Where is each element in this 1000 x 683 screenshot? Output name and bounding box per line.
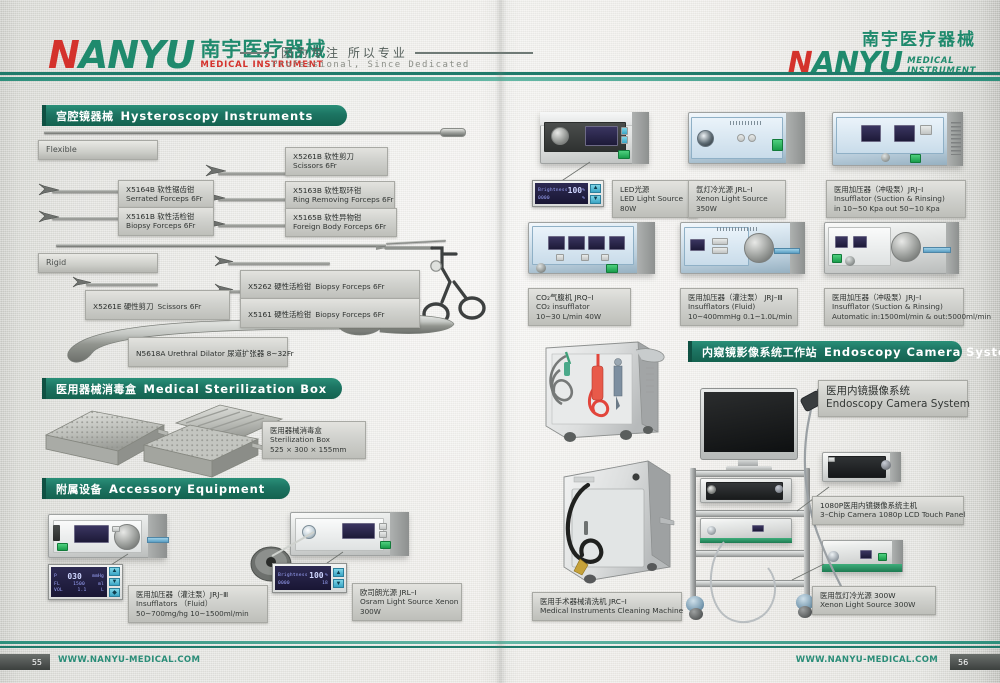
lcd-callout-led: Brightness100% 0000% ▲ ▼ [532,180,604,207]
slogan-cn: 因为专注 所以专业 [281,44,408,61]
device-lcd-1 [548,236,564,251]
lcd-row1-unit: mmHg [92,574,104,579]
section-accessory-en: Accessory Equipment [109,482,265,496]
lcd-brightness-value: 100 [309,571,323,580]
lcd-sub-label: 0000 [278,581,290,586]
section-accessory-cn: 附属设备 [56,481,102,497]
caption-sterilization-box-en: Sterilization Box [270,435,358,444]
caption-led-en: LED Light Source [620,194,690,203]
section-sterilization-en: Medical Sterilization Box [144,382,328,396]
caption-insufflator-fluid: 医用加压器（灌注泵） JRJ–Ⅲ Insufflators (Fluid) 10… [680,288,798,326]
lcd-brightness-label: Brightness [538,188,568,193]
ccu-knob[interactable] [707,485,716,494]
device-button-set[interactable] [920,125,932,135]
gas-port [536,263,546,273]
caption-co2-insufflator: CO₂气腹机 JRQ–Ⅰ CO₂ insufflator 10~30 L/min… [528,288,631,326]
caption-camera-system-en: Endoscopy Camera System [826,398,960,411]
caption-sterilization-box-cn: 医用器械消毒盒 [270,426,358,435]
serrated-forceps-jaw-icon [38,183,60,197]
caption-insufflator-fluid-cn: 医用加压器（灌注泵） JRJ–Ⅲ [688,293,790,302]
brand-letters-anyu: ANYU [79,33,195,77]
device-brand-text-strip [717,227,759,231]
section-camera-system-en: Endoscopy Camera System [824,345,1000,359]
caption-serrated-en: Serrated Forceps 6Fr [126,194,206,203]
lcd-sub-unit: % [582,196,585,201]
caption-insufflator-suction-spec: in 10~50 Kpa out 50~10 Kpa [834,204,958,213]
caption-ring-removing-cn: X5163B 软性取环钳 [293,186,387,195]
caption-led-cn: LED光源 [620,185,690,194]
lcd-key-set[interactable]: ◆ [109,588,120,597]
device-button-up[interactable] [621,127,628,135]
caption-led-spec: 80W [620,204,690,213]
slogan-dash-left [240,52,274,54]
slogan-en: Professional, Since Dedicated [272,60,470,70]
cleaning-machine-lower [548,455,678,585]
caption-insufflator-fluid-spec: 10~400mmHg 0.1~1.0L/min [688,312,790,321]
caption-biopsy-flex: X5161B 软性活检钳 Biopsy Forceps 6Fr [118,207,214,236]
caption-biopsy-5161: X5161 硬性活检钳Biopsy Forceps 6Fr [240,298,420,328]
ccu-camera-port [775,485,783,493]
power-button[interactable] [606,264,618,273]
scissors-flex-jaw-icon [205,164,227,178]
lcd-row2-unit: ml [98,582,104,587]
device-button-down[interactable] [621,136,628,144]
rigid-sheath-shaft [56,244,386,247]
caption-xenon-en: Xenon Light Source [696,194,778,203]
slogan-row: 因为专注 所以专业 [240,44,533,61]
page-footer: 55 WWW.NANYU-MEDICAL.COM WWW.NANYU-MEDIC… [0,637,1000,683]
power-button[interactable] [832,254,842,263]
rear-vent [951,122,961,155]
cart-post-left [690,468,696,600]
lcd-key-down[interactable]: ▼ [333,579,344,588]
brand-letter-n: N [48,33,79,77]
instrument-shaft-biopsy-5262 [228,262,330,265]
label-flexible: Flexible [38,140,158,160]
caption-serrated-cn: X5164B 软性锯齿钳 [126,185,206,194]
caption-foreign-body-cn: X5165B 软性异物钳 [293,213,389,222]
device-button-a[interactable] [737,134,745,142]
section-header-camera-system: 内窥镜影像系统工作站 Endoscopy Camera System [688,341,962,362]
slogan-dash-right [415,52,533,54]
caption-co2-en: CO₂ insufflator [536,302,623,311]
caption-led-light-source: LED光源 LED Light Source 80W [612,180,698,218]
caption-ring-removing-en: Ring Removing Forceps 6Fr [293,195,387,204]
lcd-key-down[interactable]: ▼ [590,195,601,204]
section-header-hysteroscopy: 宫腔镜器械 Hysteroscopy Instruments [42,105,347,126]
lcd-sub-value: 18 [322,581,328,586]
device-button[interactable] [112,526,120,532]
caption-xenon-300w-en: Xenon Light Source 300W [820,600,928,609]
section-header-sterilization: 医用器械消毒盒 Medical Sterilization Box [42,378,342,399]
page-number-left: 55 [0,654,50,670]
light-output-port [707,526,716,535]
caption-sterilization-box-size: 525 × 300 × 155mm [270,445,358,454]
hysteroscope-handle [440,128,466,137]
device-brand-text-strip [730,121,762,125]
cart-cable [700,540,820,630]
device-led-light-source [540,112,648,164]
caption-insufflator-fluid-left: 医用加压器（灌注泵）JRJ–Ⅲ Insufflators （Fluid） 50~… [128,585,268,623]
device-lcd [74,525,109,543]
lcd-key-down[interactable]: ▼ [109,578,120,587]
cart-camera-control-unit [700,478,792,503]
tubing-connector [774,248,800,254]
tubing-connector [147,537,169,543]
section-sterilization-cn: 医用器械消毒盒 [56,381,137,397]
power-button[interactable] [772,139,783,151]
caption-sterilization-box: 医用器械消毒盒 Sterilization Box 525 × 300 × 15… [262,421,366,459]
caption-co2-cn: CO₂气腹机 JRQ–Ⅰ [536,293,623,302]
caption-suction-auto-cn: 医用加压器（冲吸泵）JRJ–Ⅰ [832,293,956,302]
caption-biopsy-5161-cn: X5161 硬性活检钳 [248,310,311,319]
device-lcd-left [861,125,882,142]
device-port [53,525,60,541]
footer-rule-dark [0,646,1000,648]
light-output-port [697,130,714,147]
caption-biopsy-5262-en: Biopsy Forceps 6Fr [315,282,384,291]
caption-biopsy-5262-cn: X5262 硬性活检钳 [248,282,311,291]
device-lcd-b [853,236,866,248]
device-button-3[interactable] [601,254,609,261]
lcd-key-up[interactable]: ▲ [109,567,120,576]
lcd-brightness-unit: % [582,188,585,193]
brand-wordmark-left: NANYU [48,38,194,72]
device-insufflator-suction-auto [824,222,958,274]
caption-co2-spec: 10~30 L/min 40W [536,312,623,321]
biopsy-5262-jaw-icon [214,255,234,268]
caption-biopsy-5262: X5262 硬性活检钳Biopsy Forceps 6Fr [240,270,420,300]
device-lcd [342,523,375,539]
power-button[interactable] [380,541,391,549]
device-lcd-2 [568,236,584,251]
lcd-row1-value: 030 [67,572,81,581]
scissors-rigid-jaw-icon [72,276,92,289]
device-button-down[interactable] [379,531,387,538]
power-button[interactable] [910,154,921,163]
tubing-connector [923,247,951,253]
lcd-row3-unit: L [101,588,104,593]
lcd-row1-label: P [54,574,57,579]
device-co2-insufflator [528,222,654,274]
caption-insufflator-suction-cn: 医用加压器（冲吸泵）JRJ–Ⅰ [834,185,958,194]
caption-osram-light: 欧司朗光源 JRL–Ⅰ Osram Light Source Xenon 300… [352,583,462,621]
lcd-row2-value: 1500 [73,582,85,587]
power-button[interactable] [57,543,68,551]
device-insufflator-suction [832,112,962,166]
section-hysteroscopy-cn: 宫腔镜器械 [56,108,114,124]
device-button-1[interactable] [556,254,564,261]
caption-xenon-light-source: 氙灯冷光源 JRL–Ⅰ Xenon Light Source 350W [688,180,786,218]
caption-serrated: X5164B 软性锯齿钳 Serrated Forceps 6Fr [118,180,214,209]
device-button-row[interactable] [712,238,728,245]
lcd-brightness-value: 100 [568,186,582,195]
caption-scissors-rigid: X5261E 硬性剪刀Scissors 6Fr [85,290,230,320]
page-number-right: 56 [950,654,1000,670]
caption-osram-light-spec: 300W [360,607,454,616]
brightness-knob[interactable] [551,127,569,145]
caption-insufflator-fluid-left-spec: 50~700mg/hg 10~1500ml/min [136,609,260,618]
header-rule-dark [0,72,1000,75]
caption-camera-host-cn: 1080P医用内镜摄像系统主机 [820,501,956,510]
caption-insufflator-fluid-left-cn: 医用加压器（灌注泵）JRJ–Ⅲ [136,590,260,599]
caption-biopsy-flex-cn: X5161B 软性活检钳 [126,212,206,221]
caption-suction-auto-spec: Automatic in:1500ml/min & out:5000ml/min [832,312,956,321]
lcd-brightness-label: Brightness [278,573,308,578]
caption-scissors-flex: X5261B 软性剪刀 Scissors 6Fr [285,147,388,176]
caption-insufflator-fluid-en: Insufflators (Fluid) [688,302,790,311]
lcd-callout-osram: Brightness100% 000018 ▲ ▼ [272,563,347,593]
caption-osram-light-cn: 欧司朗光源 JRL–Ⅰ [360,588,454,597]
caption-xenon-spec: 350W [696,204,778,213]
caption-foreign-body-en: Foreign Body Forceps 6Fr [293,222,389,231]
instrument-shaft-scissors-flex [218,172,290,175]
device-insufflator-fluid [680,222,804,274]
page-header: NANYU 南宇医疗器械 MEDICAL INSTRUMENT 因为专注 所以专… [0,0,1000,84]
footer-rule-light [0,641,1000,644]
caption-scissors-rigid-en: Scissors 6Fr [157,302,201,311]
lcd-row3-value: 1.1 [78,588,87,593]
label-rigid: Rigid [38,253,158,273]
caption-xenon-300w-cn: 医用氙灯冷光源 300W [820,591,928,600]
label-flexible-text: Flexible [46,145,150,155]
device-xenon-light-source [688,112,804,164]
caption-cleaning-machine-cn: 医用手术器械清洗机 JRC–Ⅰ [540,597,674,606]
lcd-row3-label: VOL [54,588,63,593]
caption-camera-system-cn: 医用内镜摄像系统 [826,385,960,398]
page-gutter [495,0,507,683]
brand-letter-n-right: N [788,46,812,81]
caption-xenon-300w: 医用氙灯冷光源 300W Xenon Light Source 300W [812,586,936,615]
caption-camera-host: 1080P医用内镜摄像系统主机 3–Chip Camera 1080p LCD … [812,496,964,525]
logo-right: 南宇医疗器械 NANYU MEDICAL INSTRUMENT [788,32,976,77]
catalog-page: NANYU 南宇医疗器械 MEDICAL INSTRUMENT 因为专注 所以专… [0,0,1000,683]
device-lcd-a [835,236,848,248]
light-source-lcd [752,525,765,532]
lcd-row2-label: FL [54,582,60,587]
device-lcd [585,126,617,147]
brand-letters-anyu-right: ANYU [812,46,902,81]
hysteroscope-shaft [44,131,444,134]
lcd-key-up[interactable]: ▲ [333,568,344,577]
device-button-up[interactable] [379,523,387,530]
biopsy-flex-jaw-icon [38,210,60,224]
device-button-row-2[interactable] [712,247,728,254]
caption-cleaning-machine: 医用手术器械清洗机 JRC–Ⅰ Medical Instruments Clea… [532,592,682,621]
device-lcd-4 [609,236,625,251]
caption-foreign-body: X5165B 软性异物钳 Foreign Body Forceps 6Fr [285,208,397,237]
section-header-accessory: 附属设备 Accessory Equipment [42,478,290,499]
instrument-shaft-scissors-rigid [86,283,158,286]
caption-scissors-flex-cn: X5261B 软性剪刀 [293,152,380,161]
device-button-2[interactable] [581,254,589,261]
label-rigid-text: Rigid [46,258,150,268]
caption-urethral-dilator: N5618A Urethral Dilator 尿道扩张器 8~32Fr [128,337,288,367]
caption-camera-host-en: 3–Chip Camera 1080p LCD Touch Panel [820,510,956,519]
caption-cleaning-machine-en: Medical Instruments Cleaning Machine [540,606,674,615]
caption-insufflator-suction-en: Insufflator (Suction & Rinsing) [834,194,958,203]
lcd-callout-insufflator-left: P030mmHg FL1500ml VOL1.1L ▲ ▼ ◆ [48,564,123,600]
caption-camera-system: 医用内镜摄像系统 Endoscopy Camera System [818,380,968,417]
cleaning-machine-upper [530,340,675,450]
caption-scissors-rigid-cn: X5261E 硬性剪刀 [93,302,153,311]
device-lcd [690,239,705,251]
caption-ring-removing: X5163B 软性取环钳 Ring Removing Forceps 6Fr [285,181,395,210]
header-rule-light [0,77,1000,81]
caption-insufflator-fluid-left-en: Insufflators （Fluid） [136,599,260,608]
footer-url-left[interactable]: WWW.NANYU-MEDICAL.COM [58,655,200,665]
section-camera-system-cn: 内窥镜影像系统工作站 [702,344,817,360]
caption-urethral-dilator-cn: N5618A Urethral Dilator 尿道扩张器 8~32Fr [136,349,294,358]
monitor-screen [704,392,794,452]
caption-biopsy-flex-en: Biopsy Forceps 6Fr [126,221,206,230]
section-hysteroscopy-en: Hysteroscopy Instruments [121,109,314,123]
caption-suction-auto-en: Insufflator (Suction & Rinsing) [832,302,956,311]
caption-biopsy-5161-en: Biopsy Forceps 6Fr [315,310,384,319]
lcd-key-up[interactable]: ▲ [590,184,601,193]
caption-osram-light-en: Osram Light Source Xenon [360,597,454,606]
power-button[interactable] [618,150,630,159]
caption-insufflator-suction: 医用加压器（冲吸泵）JRJ–Ⅰ Insufflator (Suction & R… [826,180,966,218]
leader-line-xenon-300w [790,560,826,584]
caption-insufflator-suction-auto: 医用加压器（冲吸泵）JRJ–Ⅰ Insufflator (Suction & R… [824,288,964,326]
device-lcd-3 [588,236,604,251]
instrument-shaft-foreign-body [218,224,290,227]
caption-xenon-cn: 氙灯冷光源 JRL–Ⅰ [696,185,778,194]
device-lcd-right [894,125,915,142]
lcd-brightness-unit: % [325,573,328,578]
footer-url-right[interactable]: WWW.NANYU-MEDICAL.COM [796,655,938,665]
lcd-sub-label: 0000 [538,196,550,201]
caption-scissors-flex-en: Scissors 6Fr [293,161,380,170]
instrument-shaft-ring-removing [218,198,290,201]
